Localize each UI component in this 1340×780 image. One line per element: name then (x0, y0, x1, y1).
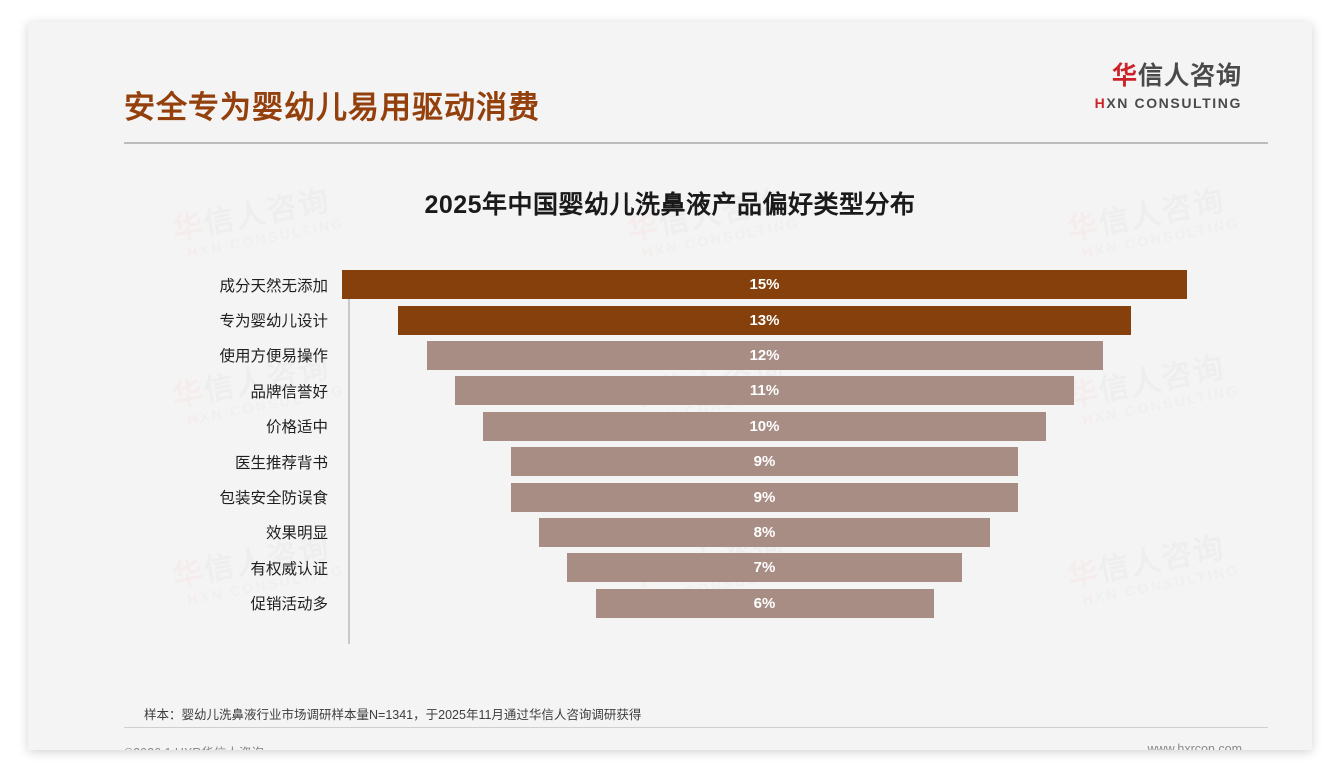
bar-track: 6% (342, 586, 1198, 621)
watermark-en-red: H (186, 243, 201, 261)
watermark-en-rest: XN CONSULTING (653, 215, 801, 259)
bar-row: 使用方便易操作12% (178, 338, 1198, 373)
bar-track: 8% (342, 515, 1198, 550)
watermark-en-red: H (1081, 243, 1096, 261)
chart-plot-area: 成分天然无添加15%专为婴幼儿设计13%使用方便易操作12%品牌信誉好11%价格… (178, 267, 1198, 647)
chart-title: 2025年中国婴幼儿洗鼻液产品偏好类型分布 (28, 185, 1312, 221)
bar-rows: 成分天然无添加15%专为婴幼儿设计13%使用方便易操作12%品牌信誉好11%价格… (178, 267, 1198, 621)
bar[interactable]: 9% (511, 483, 1018, 512)
bar-row: 医生推荐背书9% (178, 444, 1198, 479)
bar[interactable]: 7% (567, 553, 961, 582)
bar-value-label: 13% (749, 312, 779, 329)
copyright-text: ©2026.1 HXR华信人咨询 (124, 742, 264, 750)
bar-row: 价格适中10% (178, 409, 1198, 444)
company-logo: 华信人咨询 HXN CONSULTING (1095, 64, 1242, 110)
bar-value-label: 6% (754, 595, 776, 612)
bar[interactable]: 13% (398, 306, 1130, 335)
bar-value-label: 9% (754, 489, 776, 506)
bar-track: 13% (342, 302, 1198, 337)
bar-row: 包装安全防误食9% (178, 479, 1198, 514)
sample-note: 样本：婴幼儿洗鼻液行业市场调研样本量N=1341，于2025年11月通过华信人咨… (144, 704, 641, 723)
bar[interactable]: 9% (511, 447, 1018, 476)
category-label: 成分天然无添加 (178, 274, 342, 296)
bar-row: 品牌信誉好11% (178, 373, 1198, 408)
bar-track: 9% (342, 444, 1198, 479)
category-label: 有权威认证 (178, 557, 342, 579)
logo-cn-red: 华 (1112, 62, 1138, 90)
category-label: 医生推荐背书 (178, 451, 342, 473)
category-label: 促销活动多 (178, 592, 342, 614)
bar-value-label: 11% (750, 382, 779, 399)
bar-track: 7% (342, 550, 1198, 585)
bar-row: 效果明显8% (178, 515, 1198, 550)
bar[interactable]: 15% (342, 270, 1187, 299)
bar-value-label: 10% (749, 418, 779, 435)
bar-row: 有权威认证7% (178, 550, 1198, 585)
footer-divider (124, 727, 1268, 728)
bar-row: 促销活动多6% (178, 586, 1198, 621)
category-label: 价格适中 (178, 415, 342, 437)
watermark-en-rest: XN CONSULTING (1093, 215, 1241, 259)
bar-row: 专为婴幼儿设计13% (178, 302, 1198, 337)
bar-track: 9% (342, 479, 1198, 514)
page-title: 安全专为婴幼儿易用驱动消费 (124, 82, 540, 127)
bar[interactable]: 11% (455, 376, 1075, 405)
bar-track: 10% (342, 409, 1198, 444)
logo-en-rest: XN CONSULTING (1106, 95, 1242, 111)
category-label: 品牌信誉好 (178, 380, 342, 402)
slide-header: 安全专为婴幼儿易用驱动消费 华信人咨询 HXN CONSULTING (28, 22, 1312, 132)
bar-track: 11% (342, 373, 1198, 408)
category-label: 专为婴幼儿设计 (178, 309, 342, 331)
bar-value-label: 12% (749, 347, 779, 364)
header-divider (124, 142, 1268, 144)
bar-value-label: 8% (754, 524, 776, 541)
bar-track: 15% (342, 267, 1198, 302)
bar[interactable]: 8% (539, 518, 990, 547)
slide-canvas: 华信人咨询 HXN CONSULTING 华信人咨询 HXN CONSULTIN… (28, 22, 1312, 750)
bar-row: 成分天然无添加15% (178, 267, 1198, 302)
slide-footer: ©2026.1 HXR华信人咨询 www.hxrcon.com (28, 734, 1312, 750)
bar-value-label: 15% (749, 276, 779, 293)
category-label: 使用方便易操作 (178, 344, 342, 366)
category-label: 效果明显 (178, 521, 342, 543)
bar-track: 12% (342, 338, 1198, 373)
bar-value-label: 9% (754, 453, 776, 470)
website-link[interactable]: www.hxrcon.com (1148, 742, 1242, 750)
bar[interactable]: 10% (483, 412, 1046, 441)
watermark-en-rest: XN CONSULTING (198, 215, 346, 259)
bar[interactable]: 6% (596, 589, 934, 618)
category-label: 包装安全防误食 (178, 486, 342, 508)
watermark-en-red: H (641, 243, 656, 261)
logo-cn-rest: 信人咨询 (1138, 62, 1242, 90)
logo-en-red: H (1095, 95, 1107, 111)
bar[interactable]: 12% (427, 341, 1103, 370)
bar-value-label: 7% (754, 559, 776, 576)
